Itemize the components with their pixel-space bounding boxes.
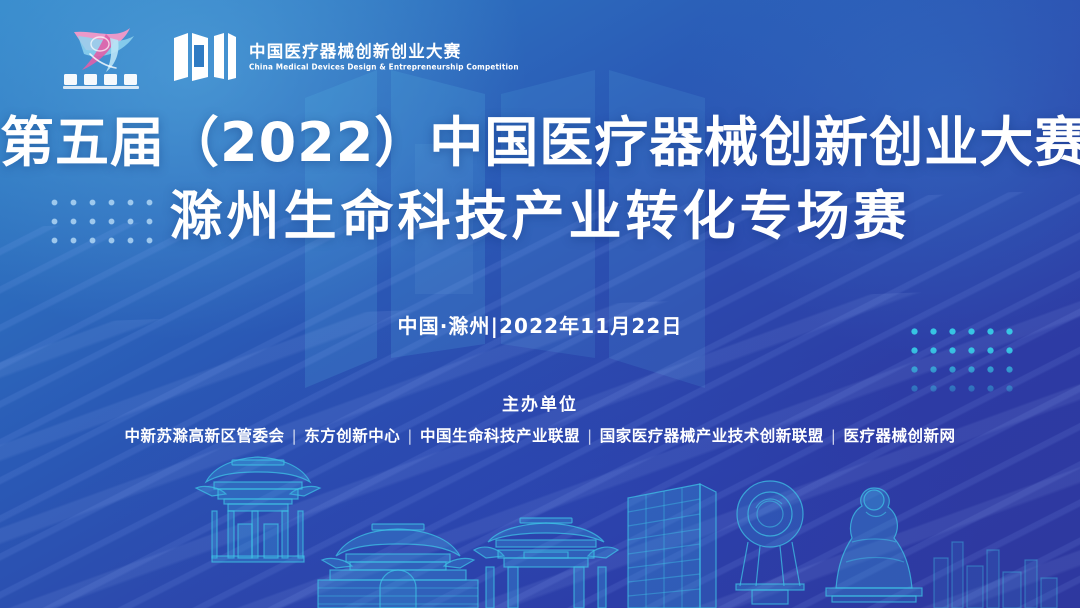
host-separator: | [407, 427, 413, 445]
city-gate-tower [318, 524, 478, 608]
competition-logo-en: China Medical Devices Design & Entrepren… [249, 62, 519, 70]
host-name: 中国生命科技产业联盟 [420, 427, 580, 445]
paifang-archway [474, 518, 618, 608]
host-separator: | [587, 427, 593, 445]
poster-canvas: 中国医疗器械创新创业大赛 China Medical Devices Desig… [0, 0, 1080, 608]
host-separator: | [831, 427, 837, 445]
chinese-pavilion [196, 457, 320, 562]
header-logos: 中国医疗器械创新创业大赛 China Medical Devices Desig… [60, 24, 519, 90]
host-name: 中新苏滁高新区管委会 [124, 427, 284, 445]
bird-ribbon-icon [60, 24, 152, 90]
competition-logo: 中国医疗器械创新创业大赛 China Medical Devices Desig… [174, 32, 519, 82]
merlion-statue [826, 488, 922, 602]
host-name: 国家医疗器械产业技术创新联盟 [600, 427, 824, 445]
title-block: 第五届（2022）中国医疗器械创新创业大赛 滁州生命科技产业转化专场赛 [0, 113, 1080, 247]
host-name: 东方创新中心 [304, 427, 400, 445]
ring-sculpture [736, 481, 804, 604]
innovation-china-logo [60, 24, 152, 90]
host-name: 医疗器械创新网 [843, 427, 955, 445]
hosts-list: 中新苏滁高新区管委会|东方创新中心|中国生命科技产业联盟|国家医疗器械产业技术创… [0, 424, 1080, 446]
skyline-illustration [0, 438, 1080, 608]
hosts-label: 主办单位 [0, 390, 1080, 415]
host-separator: | [292, 427, 298, 445]
open-window-icon [174, 32, 236, 82]
competition-logo-cn: 中国医疗器械创新创业大赛 [249, 44, 519, 61]
page-title: 第五届（2022）中国医疗器械创新创业大赛 [0, 113, 1080, 173]
page-subtitle: 滁州生命科技产业转化专场赛 [0, 187, 1080, 246]
city-skyline-silhouette [934, 542, 1057, 608]
glow-bottom-center [90, 300, 990, 608]
modern-office-tower [628, 484, 716, 608]
event-meta-line: 中国·滁州|2022年11月22日 [0, 310, 1080, 339]
